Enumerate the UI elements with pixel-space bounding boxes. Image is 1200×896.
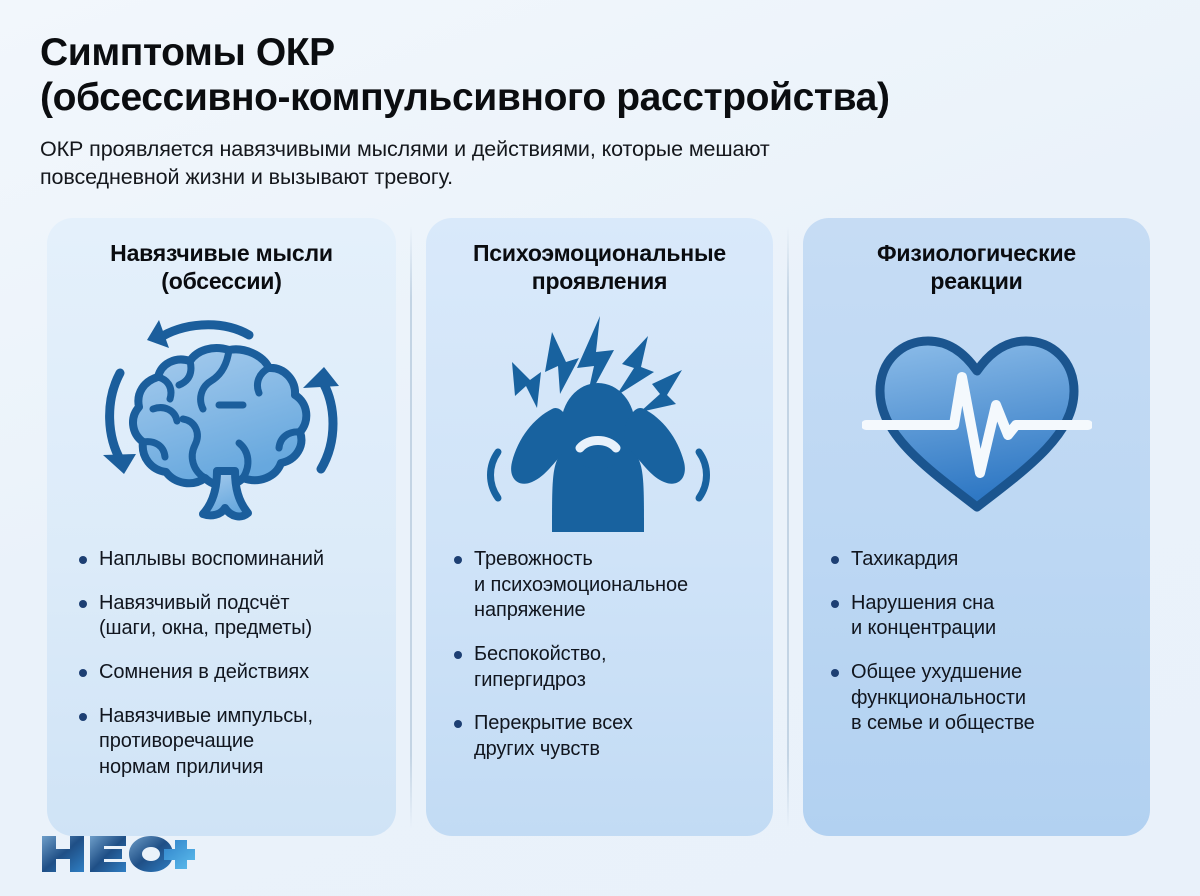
symptom-cards: Навязчивые мысли (обсессии)	[47, 218, 1157, 836]
stressed-person-icon	[426, 295, 773, 547]
infographic-page: Симптомы ОКР (обсессивно-компульсивного …	[0, 0, 1200, 896]
list-item: Нарушения сна и концентрации	[829, 591, 1136, 642]
list-item: Перекрытие всех других чувств	[452, 711, 759, 762]
list-item: Общее ухудшение функциональности в семье…	[829, 660, 1136, 737]
brain-cycle-icon	[47, 295, 396, 547]
list-item: Сомнения в действиях	[77, 660, 382, 686]
bullet-list-obsessive-thoughts: Наплывы воспоминаний Навязчивый подсчёт …	[47, 547, 396, 836]
bullet-list-psychoemotional: Тревожность и психоэмоциональное напряже…	[426, 547, 773, 836]
card-title-obsessive-thoughts: Навязчивые мысли (обсессии)	[47, 240, 396, 295]
list-item: Наплывы воспоминаний	[77, 547, 382, 573]
list-item: Тревожность и психоэмоциональное напряже…	[452, 547, 759, 624]
list-item: Навязчивый подсчёт (шаги, окна, предметы…	[77, 591, 382, 642]
list-item: Навязчивые импульсы, противоречащие норм…	[77, 704, 382, 781]
card-title-psychoemotional: Психоэмоциональные проявления	[426, 240, 773, 295]
card-psychoemotional: Психоэмоциональные проявления	[426, 218, 773, 836]
page-subtitle: ОКР проявляется навязчивыми мыслями и де…	[40, 136, 1085, 192]
card-title-physiological: Физиологические реакции	[803, 240, 1150, 295]
card-divider-2	[787, 226, 789, 828]
bullet-list-physiological: Тахикардия Нарушения сна и концентрации …	[803, 547, 1150, 836]
card-physiological: Физиологические реакции Тахикардия Наруш…	[803, 218, 1150, 836]
card-obsessive-thoughts: Навязчивые мысли (обсессии)	[47, 218, 396, 836]
list-item: Тахикардия	[829, 547, 1136, 573]
page-title: Симптомы ОКР (обсессивно-компульсивного …	[40, 30, 1164, 120]
brand-logo: НЕО+	[40, 834, 195, 874]
heart-pulse-icon	[803, 295, 1150, 547]
list-item: Беспокойство, гипергидроз	[452, 642, 759, 693]
card-divider-1	[410, 226, 412, 828]
